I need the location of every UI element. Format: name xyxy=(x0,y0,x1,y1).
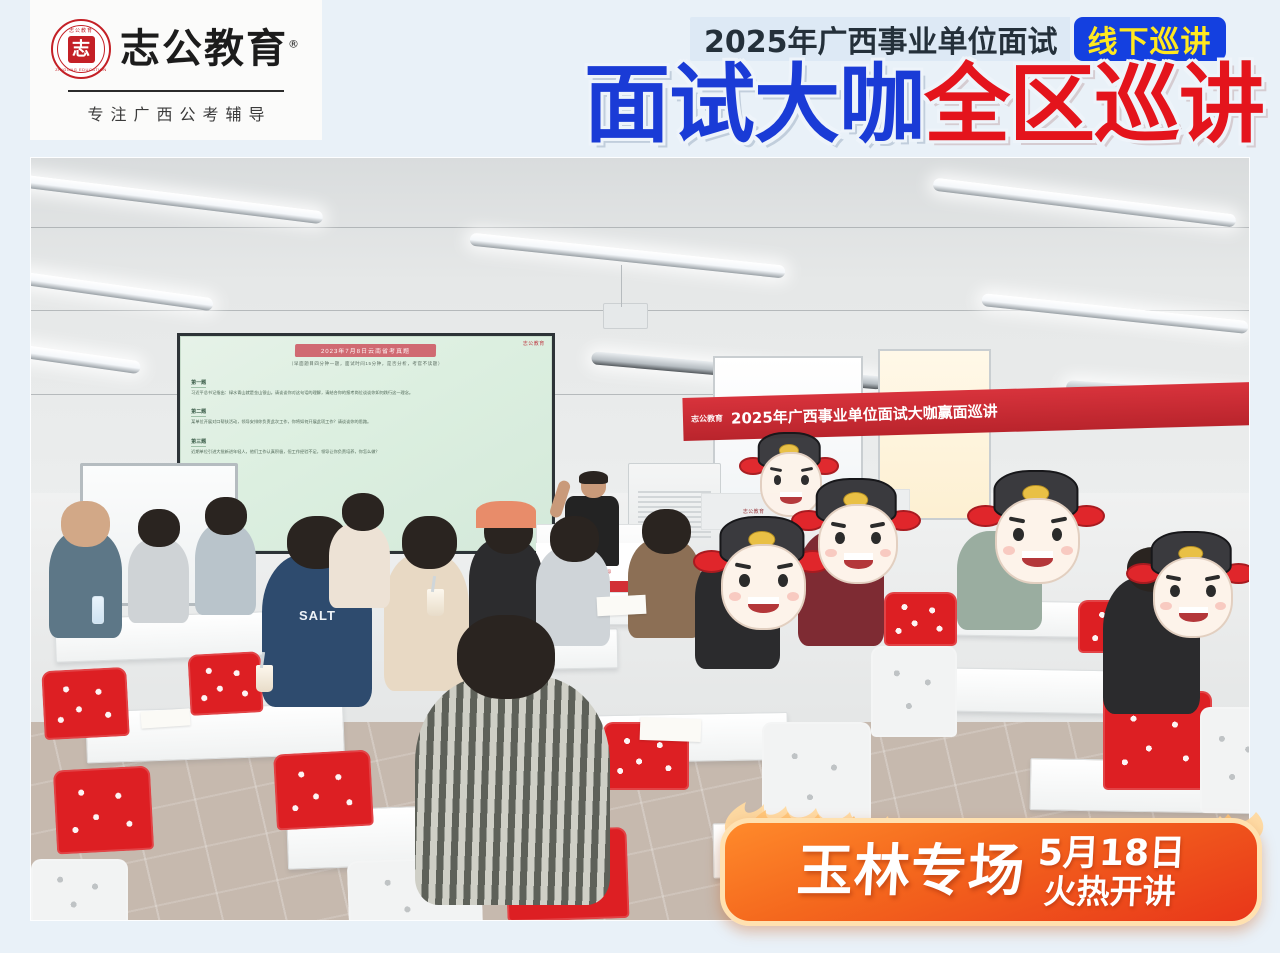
student-head xyxy=(457,615,554,699)
sticker-brow-right xyxy=(1205,574,1221,581)
student-figure xyxy=(128,539,189,623)
slide-block: 第三题 近期单位引进大批新进年轻人，他们工作认真积极，但工作经验不足，领导让你负… xyxy=(191,430,541,455)
student-figure xyxy=(329,524,390,608)
student-figure xyxy=(384,554,469,691)
sticker-cheek-left xyxy=(1160,602,1171,610)
ceiling-seam xyxy=(31,227,1249,228)
drink-cup xyxy=(256,665,273,692)
sticker-cheek-left xyxy=(1003,546,1015,555)
sticker-brow-left xyxy=(830,521,846,528)
poster-root: 志公教育 志 ZHIGONG EDUCATION 志公教育® 专注广西公考辅导 … xyxy=(0,0,1280,953)
slide-block-text: 某单位开展对口帮扶活动，领导安排你负责此次工作，你将如何开展此项工作？请谈谈你的… xyxy=(191,418,541,425)
sticker-eye-right xyxy=(801,475,809,485)
paper-sheet xyxy=(597,595,647,617)
slide-block-text: 近期单位引进大批新进年轻人，他们工作认真积极，但工作经验不足，领导让你负责培养，… xyxy=(191,448,541,455)
sticker-brow-left xyxy=(1008,516,1025,523)
sticker-face-icon xyxy=(1153,557,1234,638)
sticker-eye-right xyxy=(778,574,789,587)
sticker-mouth xyxy=(1022,551,1053,567)
student-head xyxy=(402,516,457,569)
sticker-eye-left xyxy=(774,475,782,485)
slide-subtitle: （早面题目四分钟一题，面试时间15分钟，是否分析，考官不读题） xyxy=(191,361,541,367)
wall-banner-logo: 志公教育 xyxy=(690,413,722,425)
sticker-brow-right xyxy=(800,467,812,472)
classroom-chair xyxy=(188,651,264,716)
sticker-face-icon xyxy=(760,452,823,516)
slide-logo: 志公教育 xyxy=(523,340,545,347)
event-date: 5月18日 xyxy=(1037,836,1186,872)
sticker-brow-right xyxy=(777,562,794,569)
sticker-cheek-left xyxy=(729,592,741,601)
event-cta: 火热开讲 xyxy=(1043,875,1177,908)
sticker-mouth xyxy=(844,553,873,568)
sticker-cheek-right xyxy=(880,549,891,557)
sticker-eye-left xyxy=(835,532,845,544)
slide-block: 第二题 某单位开展对口帮扶活动，领导安排你负责此次工作，你将如何开展此项工作？请… xyxy=(191,400,541,425)
event-badge-body: 玉林专场 5月18日 火热开讲 xyxy=(720,818,1262,926)
teacher-hair xyxy=(579,471,608,484)
event-badge: 玉林专场 5月18日 火热开讲 xyxy=(720,806,1262,930)
sticker-brow-right xyxy=(1051,516,1068,523)
registered-mark: ® xyxy=(288,38,301,51)
paper-sheet xyxy=(640,717,702,742)
sticker-eye-left xyxy=(739,574,750,587)
student-head xyxy=(342,493,385,531)
water-bottle xyxy=(92,596,104,624)
sticker-mouth xyxy=(748,597,779,613)
student-shirt-text: SALT xyxy=(299,608,336,623)
seal-arc-top-text: 志公教育 xyxy=(53,27,109,34)
drink-cup xyxy=(427,589,444,616)
sticker-mouth xyxy=(1179,607,1208,622)
classroom-chair xyxy=(273,750,374,831)
student-figure xyxy=(49,531,122,638)
projector-mount xyxy=(621,265,622,307)
sticker-brow-right xyxy=(870,521,886,528)
sticker-mouth xyxy=(780,492,802,504)
student-head xyxy=(205,497,246,535)
page-title: 面试大咖全区巡讲 xyxy=(0,62,1264,148)
face-sticker xyxy=(707,516,817,630)
student-head xyxy=(138,509,179,547)
poster-header: 志公教育 志 ZHIGONG EDUCATION 志公教育® 专注广西公考辅导 … xyxy=(0,0,1280,158)
seal-character: 志 xyxy=(68,36,95,63)
sticker-cheek-right xyxy=(1061,546,1073,555)
sticker-brow-left xyxy=(770,467,782,472)
sticker-eye-right xyxy=(871,532,881,544)
face-sticker xyxy=(1139,531,1243,638)
slide-block-heading: 第三题 xyxy=(191,438,206,447)
sticker-eye-left xyxy=(1170,585,1180,597)
face-sticker xyxy=(981,470,1091,584)
sticker-face-icon xyxy=(818,504,899,585)
student-head xyxy=(61,501,110,547)
student-figure xyxy=(195,524,256,615)
student-head xyxy=(642,509,691,555)
projector-icon xyxy=(603,303,648,329)
sticker-cheek-right xyxy=(1215,602,1226,610)
sticker-eye-left xyxy=(1013,528,1024,541)
student-figure-foreground xyxy=(415,676,610,905)
slide-block: 第一题 习近平总书记指出：绿水青山就是金山银山。请谈谈你对这句话的理解，请结合你… xyxy=(191,371,541,396)
sticker-cheek-right xyxy=(787,592,799,601)
classroom-chair xyxy=(53,765,155,854)
student-cap xyxy=(476,501,537,528)
slide-title: 2023年7月8日云南省考真题 xyxy=(295,344,436,357)
slide-block-heading: 第一题 xyxy=(191,379,206,388)
classroom-chair xyxy=(41,666,130,739)
sticker-brow-left xyxy=(734,562,751,569)
sticker-eye-right xyxy=(1206,585,1216,597)
classroom-chair xyxy=(871,646,956,737)
sticker-cheek-left xyxy=(825,549,836,557)
sticker-brow-left xyxy=(1165,574,1181,581)
sticker-face-icon xyxy=(995,498,1080,584)
headline-red-part: 全区巡讲 xyxy=(924,55,1264,155)
slide-block-text: 习近平总书记指出：绿水青山就是金山银山。请谈谈你对这句话的理解，请结合你的报考岗… xyxy=(191,389,541,396)
classroom-chair xyxy=(31,859,128,920)
sticker-eye-right xyxy=(1052,528,1063,541)
event-city: 玉林专场 xyxy=(796,844,1027,900)
wall-banner-text: 2025年广西事业单位面试大咖赢面巡讲 xyxy=(730,400,997,428)
sticker-face-icon xyxy=(721,544,806,630)
classroom-chair xyxy=(884,592,957,645)
headline-blue-part: 面试大咖 xyxy=(584,55,924,155)
student-head xyxy=(550,516,599,562)
event-detail-group: 5月18日 火热开讲 xyxy=(1036,836,1187,908)
slide-block-heading: 第二题 xyxy=(191,408,206,417)
